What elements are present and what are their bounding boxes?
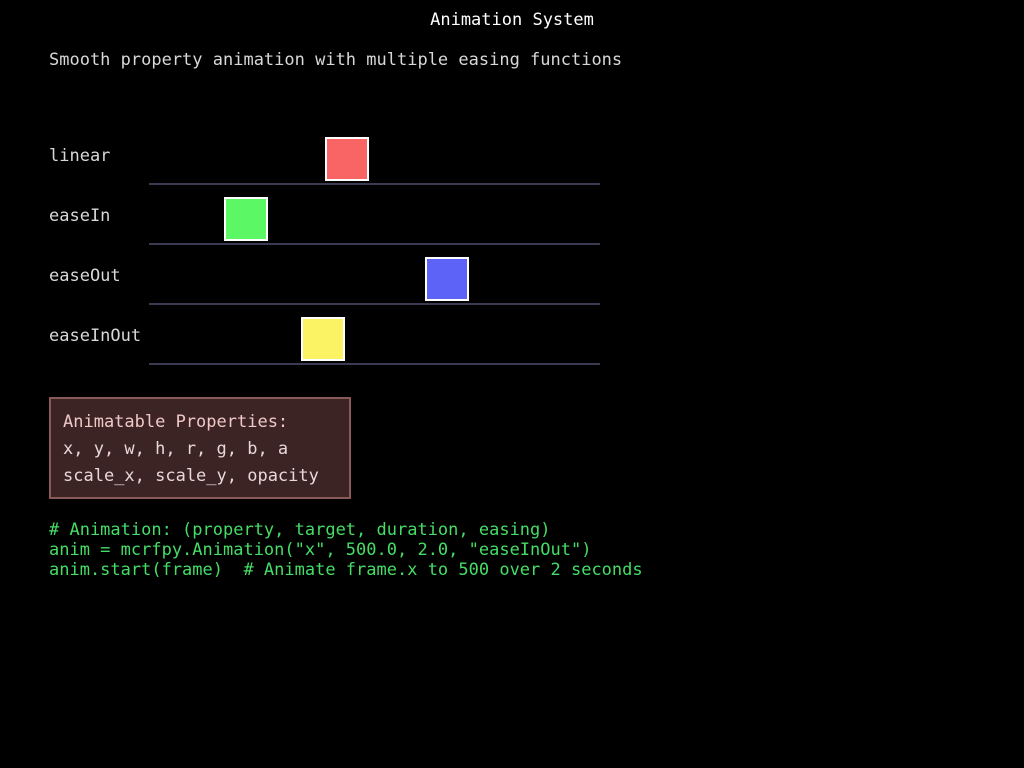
properties-list-line-1: x, y, w, h, r, g, b, a bbox=[63, 438, 288, 460]
easing-track: easeInOut bbox=[0, 305, 1024, 365]
animation-system-demo: Animation System Smooth property animati… bbox=[0, 0, 1024, 768]
properties-list-line-2: scale_x, scale_y, opacity bbox=[63, 465, 319, 487]
easing-track: easeIn bbox=[0, 185, 1024, 245]
easing-track-line bbox=[149, 363, 600, 365]
easing-track-label: easeIn bbox=[49, 205, 110, 227]
animatable-properties-panel: Animatable Properties: x, y, w, h, r, g,… bbox=[49, 397, 351, 499]
animated-box-easein[interactable] bbox=[224, 197, 268, 241]
easing-track-label: easeOut bbox=[49, 265, 121, 287]
code-example-block: # Animation: (property, target, duration… bbox=[49, 520, 643, 580]
animated-box-easeout[interactable] bbox=[425, 257, 469, 301]
easing-track-label: easeInOut bbox=[49, 325, 141, 347]
page-title: Animation System bbox=[0, 9, 1024, 31]
page-subtitle: Smooth property animation with multiple … bbox=[49, 49, 622, 71]
properties-panel-title: Animatable Properties: bbox=[63, 411, 288, 433]
easing-track-label: linear bbox=[49, 145, 110, 167]
code-line-create-animation: anim = mcrfpy.Animation("x", 500.0, 2.0,… bbox=[49, 540, 643, 560]
animated-box-linear[interactable] bbox=[325, 137, 369, 181]
easing-tracks-list: lineareaseIneaseOuteaseInOut bbox=[0, 125, 1024, 365]
animated-box-easeinout[interactable] bbox=[301, 317, 345, 361]
code-line-start-animation: anim.start(frame) # Animate frame.x to 5… bbox=[49, 560, 643, 580]
code-line-comment: # Animation: (property, target, duration… bbox=[49, 520, 643, 540]
easing-track: linear bbox=[0, 125, 1024, 185]
easing-track: easeOut bbox=[0, 245, 1024, 305]
